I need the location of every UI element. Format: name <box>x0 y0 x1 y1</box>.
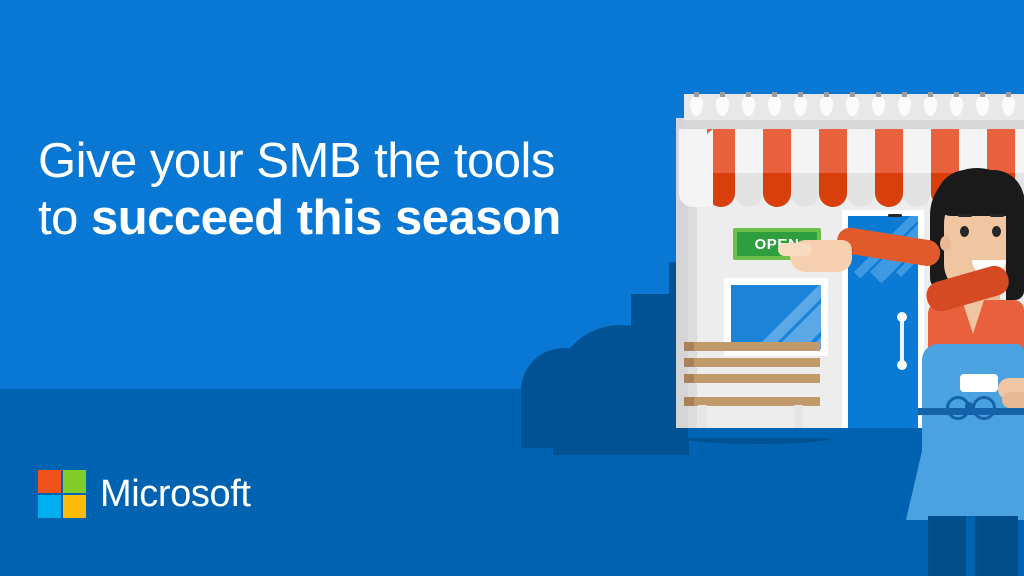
headline-line-2-emphasis: succeed this season <box>91 191 561 245</box>
ear <box>940 236 951 251</box>
awning-stripe <box>847 129 875 207</box>
string-light-bulb <box>898 96 911 116</box>
apron-bow-knot <box>965 402 973 410</box>
awning-stripe <box>735 129 763 207</box>
string-light-bulb <box>924 96 937 116</box>
headline: Give your SMB the tools to succeed this … <box>38 133 638 247</box>
apron-bow <box>946 396 992 418</box>
string-light-bulb <box>690 96 703 116</box>
eyebrow-left <box>958 214 972 217</box>
string-light-bulb <box>768 96 781 116</box>
bench-slat-end <box>684 374 694 383</box>
logo-square-top-right <box>63 470 86 493</box>
eyebrow-right <box>990 214 1004 217</box>
awning-stripe-lower <box>791 173 819 207</box>
microsoft-wordmark: Microsoft <box>100 473 251 516</box>
awning-stripe <box>791 129 819 207</box>
string-light-bulb <box>1002 96 1015 116</box>
string-light-bulb <box>950 96 963 116</box>
string-light-bulb <box>976 96 989 116</box>
eye-left <box>960 226 969 237</box>
apron-bow-loop-right <box>972 396 996 420</box>
bench-slat-end <box>684 397 694 406</box>
apron <box>922 344 1024 520</box>
string-light-bulb <box>872 96 885 116</box>
string-light-bulb <box>820 96 833 116</box>
awning-stripe-lower <box>847 173 875 207</box>
awning-stripe <box>763 129 791 207</box>
string-light-bulb <box>794 96 807 116</box>
microsoft-logo-icon <box>38 470 86 518</box>
pointing-finger <box>778 243 812 256</box>
bench-slat-end <box>684 342 694 351</box>
logo-square-top-left <box>38 470 61 493</box>
eyebrow-right <box>888 214 902 217</box>
headline-line-2-prefix: to <box>38 191 91 245</box>
eye-right <box>992 226 1001 237</box>
shopkeeper-figure <box>888 168 1024 576</box>
bench-slat <box>684 358 820 367</box>
banner-canvas: Give your SMB the tools to succeed this … <box>0 0 1024 576</box>
bench-slat <box>684 342 820 351</box>
microsoft-logo: Microsoft <box>38 470 251 518</box>
string-light-rail-shadow <box>684 120 1024 129</box>
shop-window-glass <box>731 285 821 349</box>
leg-gap <box>966 516 975 576</box>
resting-hand-detail <box>1002 392 1024 408</box>
logo-square-bottom-right <box>63 495 86 518</box>
headline-line-1: Give your SMB the tools <box>38 133 638 190</box>
nametag <box>960 374 998 392</box>
awning-stripe-lower <box>763 173 791 207</box>
bench-slat-end <box>684 358 694 367</box>
string-lights <box>684 90 1024 120</box>
awning-stripe-lower <box>735 173 763 207</box>
string-light-bulb <box>716 96 729 116</box>
string-light-bulb <box>742 96 755 116</box>
string-light-bulb <box>846 96 859 116</box>
bench <box>684 342 820 428</box>
awning-stripe <box>819 129 847 207</box>
awning-stripe-lower <box>819 173 847 207</box>
headline-line-2: to succeed this season <box>38 190 638 247</box>
logo-square-bottom-left <box>38 495 61 518</box>
bench-slat <box>684 374 820 383</box>
